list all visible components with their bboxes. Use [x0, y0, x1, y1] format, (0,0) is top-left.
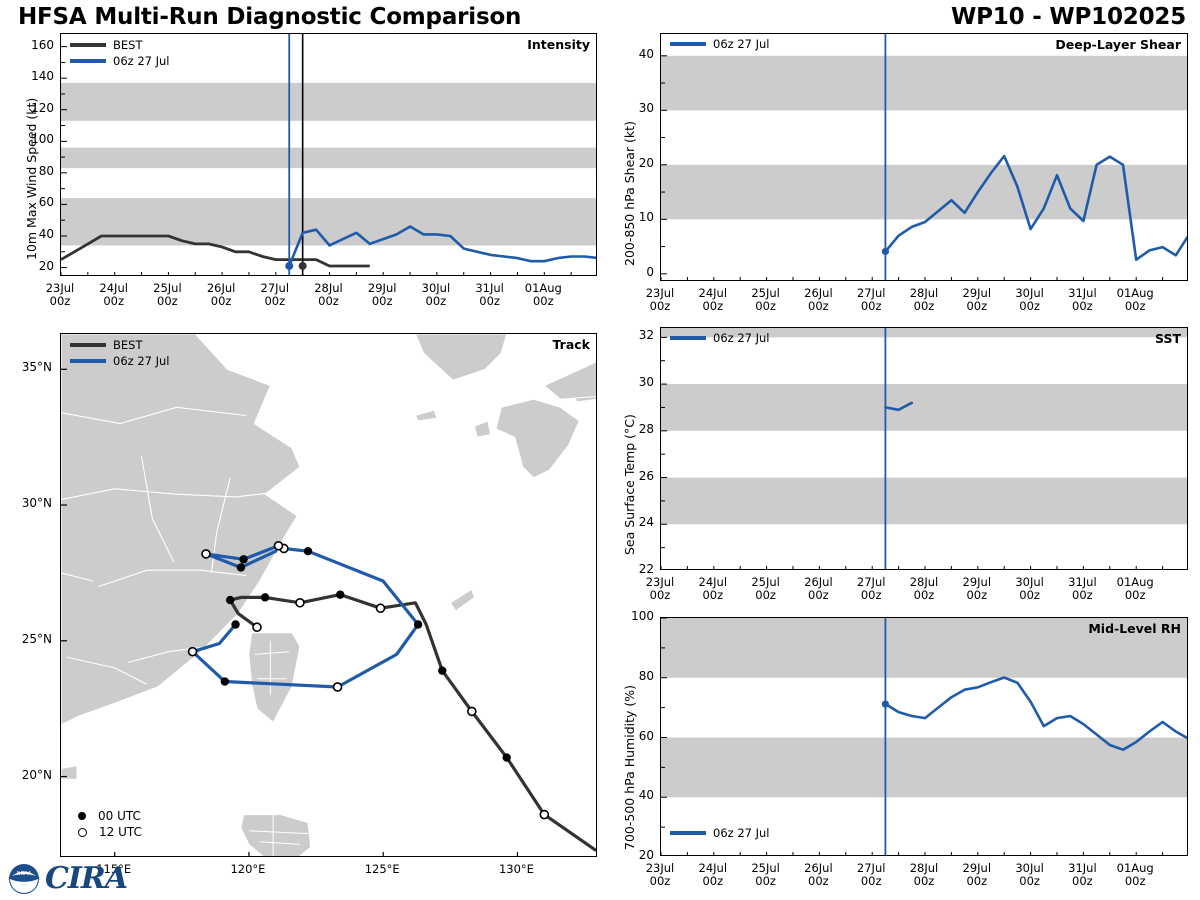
legend-label-shear-run: 06z 27 Jul [713, 38, 770, 50]
legend-swatch-run-track [70, 359, 106, 363]
legend-item-shear-run: 06z 27 Jul [670, 37, 770, 51]
legend-label-rh-run: 06z 27 Jul [713, 827, 770, 839]
legend-item-best: BEST [70, 38, 170, 52]
x-tick-label: 30Jul00z [1000, 576, 1060, 602]
x-tick-label: 29Jul00z [352, 282, 412, 308]
shear-panel-title: Deep-Layer Shear [1055, 37, 1181, 52]
y-tick-label: 20 [612, 848, 654, 862]
x-tick-label: 25Jul00z [736, 862, 796, 888]
x-tick-label: 28Jul00z [299, 282, 359, 308]
marker-legend-00utc: 00 UTC [78, 808, 142, 824]
legend-swatch-shear-run [670, 42, 706, 46]
y-tick-label: 24 [612, 515, 654, 529]
legend-swatch-run [70, 59, 106, 63]
x-tick-label: 26Jul00z [191, 282, 251, 308]
y-tick-label: 26 [612, 469, 654, 483]
x-tick-label: 01Aug00z [1105, 862, 1165, 888]
x-tick-label: 25Jul00z [137, 282, 197, 308]
sst-panel-title: SST [1155, 331, 1181, 346]
legend-swatch-best-track [70, 343, 106, 348]
x-tick-label: 24Jul00z [84, 282, 144, 308]
intensity-panel-title: Intensity [527, 37, 590, 52]
track-panel-title: Track [553, 337, 590, 352]
map-y-tick-label: 25°N [6, 632, 52, 646]
x-tick-label: 27Jul00z [245, 282, 305, 308]
legend-item-best-track: BEST [70, 338, 170, 352]
y-tick-label: 60 [612, 729, 654, 743]
intensity-plot-area [61, 34, 597, 276]
x-tick-label: 26Jul00z [788, 862, 848, 888]
legend-item-run-track: 06z 27 Jul [70, 354, 170, 368]
intensity-legend: BEST 06z 27 Jul [70, 38, 170, 68]
x-tick-label: 23Jul00z [630, 862, 690, 888]
y-tick-label: 100 [612, 609, 654, 623]
noaa-emblem-icon: NOAA [6, 862, 42, 896]
x-tick-label: 26Jul00z [788, 287, 848, 313]
x-tick-label: 29Jul00z [947, 576, 1007, 602]
shear-plot-area [661, 34, 1188, 281]
map-x-tick-label: 130°E [486, 863, 546, 876]
x-tick-label: 25Jul00z [736, 576, 796, 602]
x-tick-label: 30Jul00z [406, 282, 466, 308]
marker-legend-label-12utc: 12 UTC [99, 825, 142, 839]
sst-plot-area [661, 328, 1188, 570]
x-tick-label: 01Aug00z [1105, 287, 1165, 313]
y-tick-label: 100 [12, 132, 54, 146]
y-tick-label: 30 [612, 375, 654, 389]
x-tick-label: 31Jul00z [1052, 576, 1112, 602]
shear-y-axis-label: 200-850 hPa Shear (kt) [622, 121, 637, 266]
cira-logo-text: CIRA [45, 861, 127, 896]
x-tick-label: 25Jul00z [736, 287, 796, 313]
x-tick-label: 30Jul00z [1000, 287, 1060, 313]
legend-item-sst-run: 06z 27 Jul [670, 331, 770, 345]
legend-swatch-rh-run [670, 831, 706, 835]
open-circle-icon [78, 828, 87, 837]
svg-text:NOAA: NOAA [17, 871, 32, 877]
x-tick-label: 27Jul00z [841, 862, 901, 888]
y-tick-label: 30 [612, 101, 654, 115]
y-tick-label: 0 [612, 265, 654, 279]
y-tick-label: 80 [12, 164, 54, 178]
rh-y-axis-label: 700-500 hPa Humidity (%) [622, 685, 637, 850]
x-tick-label: 28Jul00z [894, 576, 954, 602]
x-tick-label: 28Jul00z [894, 287, 954, 313]
y-tick-label: 28 [612, 422, 654, 436]
x-tick-label: 26Jul00z [788, 576, 848, 602]
y-tick-label: 10 [612, 210, 654, 224]
shear-panel: Deep-Layer Shear [660, 33, 1188, 281]
legend-swatch-best [70, 43, 106, 48]
legend-swatch-sst-run [670, 336, 706, 340]
marker-legend-12utc: 12 UTC [78, 824, 142, 840]
x-tick-label: 28Jul00z [894, 862, 954, 888]
legend-label-sst-run: 06z 27 Jul [713, 332, 770, 344]
map-y-tick-label: 20°N [6, 768, 52, 782]
legend-label-run-track: 06z 27 Jul [113, 355, 170, 367]
legend-label-run: 06z 27 Jul [113, 55, 170, 67]
y-tick-label: 20 [12, 259, 54, 273]
y-tick-label: 22 [612, 562, 654, 576]
x-tick-label: 30Jul00z [1000, 862, 1060, 888]
y-tick-label: 40 [612, 47, 654, 61]
x-tick-label: 24Jul00z [683, 287, 743, 313]
x-tick-label: 24Jul00z [683, 862, 743, 888]
legend-label-best-track: BEST [113, 339, 142, 351]
y-tick-label: 120 [12, 101, 54, 115]
x-tick-label: 01Aug00z [1105, 576, 1165, 602]
y-tick-label: 80 [612, 669, 654, 683]
marker-legend-label-00utc: 00 UTC [98, 809, 141, 823]
y-tick-label: 160 [12, 38, 54, 52]
sst-panel: SST [660, 327, 1188, 570]
rh-panel: Mid-Level RH [660, 617, 1188, 856]
y-tick-label: 40 [612, 788, 654, 802]
storm-identifier: WP10 - WP102025 [951, 4, 1186, 30]
y-tick-label: 60 [12, 195, 54, 209]
page-title: HFSA Multi-Run Diagnostic Comparison [18, 4, 521, 30]
shear-legend: 06z 27 Jul [670, 37, 770, 51]
x-tick-label: 23Jul00z [630, 576, 690, 602]
legend-item-run: 06z 27 Jul [70, 54, 170, 68]
rh-plot-area [661, 618, 1188, 856]
x-tick-label: 27Jul00z [841, 576, 901, 602]
map-y-tick-label: 30°N [6, 496, 52, 510]
y-tick-label: 20 [612, 156, 654, 170]
track-legend: BEST 06z 27 Jul [70, 338, 170, 368]
track-panel: Track [60, 333, 597, 857]
track-marker-legend: 00 UTC 12 UTC [78, 808, 142, 840]
map-x-tick-label: 125°E [352, 863, 412, 876]
x-tick-label: 29Jul00z [947, 287, 1007, 313]
filled-circle-icon [78, 812, 86, 820]
legend-item-rh-run: 06z 27 Jul [670, 826, 770, 840]
x-tick-label: 23Jul00z [30, 282, 90, 308]
x-tick-label: 31Jul00z [460, 282, 520, 308]
y-tick-label: 32 [612, 328, 654, 342]
sst-legend: 06z 27 Jul [670, 331, 770, 345]
y-tick-label: 140 [12, 69, 54, 83]
rh-panel-title: Mid-Level RH [1088, 621, 1181, 636]
x-tick-label: 29Jul00z [947, 862, 1007, 888]
map-y-tick-label: 35°N [6, 360, 52, 374]
legend-label-best: BEST [113, 39, 142, 51]
x-tick-label: 27Jul00z [841, 287, 901, 313]
x-tick-label: 31Jul00z [1052, 287, 1112, 313]
x-tick-label: 31Jul00z [1052, 862, 1112, 888]
intensity-panel: Intensity [60, 33, 597, 276]
x-tick-label: 23Jul00z [630, 287, 690, 313]
x-tick-label: 01Aug00z [513, 282, 573, 308]
x-tick-label: 24Jul00z [683, 576, 743, 602]
track-map-area [61, 334, 597, 857]
cira-logo: NOAA CIRA [6, 861, 127, 896]
rh-legend: 06z 27 Jul [670, 826, 770, 840]
map-x-tick-label: 120°E [218, 863, 278, 876]
y-tick-label: 40 [12, 227, 54, 241]
